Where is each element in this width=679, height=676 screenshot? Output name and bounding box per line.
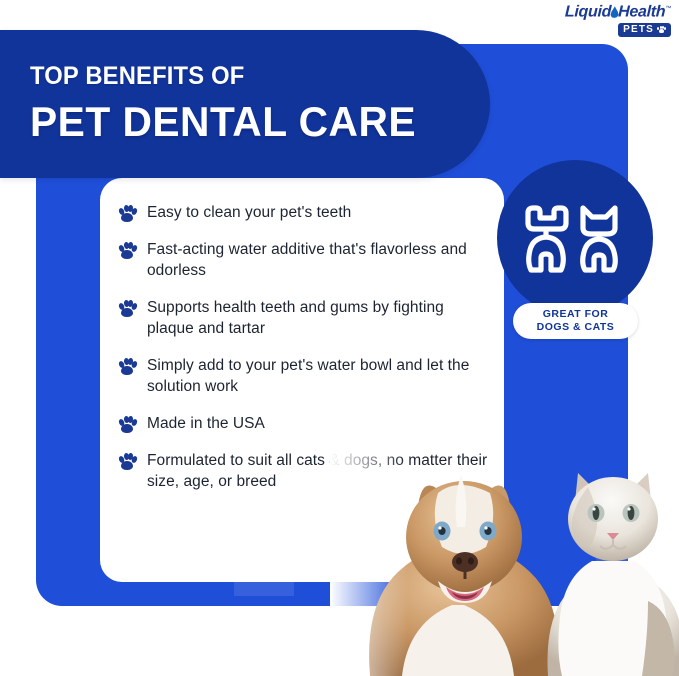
trademark-symbol: ™ [665,6,671,12]
brand-logo-text-health: Health [618,3,666,20]
benefit-text: Easy to clean your pet's teeth [147,202,351,223]
cat-illustration [548,473,679,676]
benefit-text: Simply add to your pet's water bowl and … [147,355,490,397]
brand-logo-wordmark: LiquidHealth™ [555,2,672,19]
paw-icon [118,416,136,433]
paw-icon [118,205,136,222]
list-item: Fast-acting water additive that's flavor… [118,239,490,281]
page-title: PET DENTAL CARE [30,101,416,143]
list-item: Easy to clean your pet's teeth [118,202,490,223]
list-item: Supports health teeth and gums by fighti… [118,297,490,339]
headline-kicker: TOP BENEFITS OF [30,64,408,89]
brand-logo-pets-badge: PETS [618,23,671,37]
brand-logo-text-liquid: Liquid [565,3,612,20]
paw-icon [657,25,666,34]
list-item: Simply add to your pet's water bowl and … [118,355,490,397]
dog-and-cat-icons [519,201,631,275]
dog-outline-icon [528,208,566,270]
badge-line-2: DOGS & CATS [537,321,615,334]
paw-icon [118,300,136,317]
brand-logo: LiquidHealth™ PETS [555,2,671,37]
benefit-text: Fast-acting water additive that's flavor… [147,239,490,281]
infographic-canvas: LiquidHealth™ PETS [0,0,679,676]
headline-banner: TOP BENEFITS OF PET DENTAL CARE [0,30,490,178]
headline-text-group: TOP BENEFITS OF PET DENTAL CARE [30,64,428,143]
dog-and-cat-photo-illustration [330,415,679,676]
pets-photo [330,415,679,676]
badge-line-1: GREAT FOR [543,308,609,321]
pet-icon-circle [497,160,653,316]
paw-icon [118,358,136,375]
benefit-text: Made in the USA [147,413,265,434]
paw-icon [118,242,136,259]
status-badge: GREAT FOR DOGS & CATS [513,303,638,339]
benefit-text: Supports health teeth and gums by fighti… [147,297,490,339]
brand-logo-pets-label: PETS [623,24,654,35]
cat-outline-icon [583,208,616,270]
paw-icon [118,453,136,470]
